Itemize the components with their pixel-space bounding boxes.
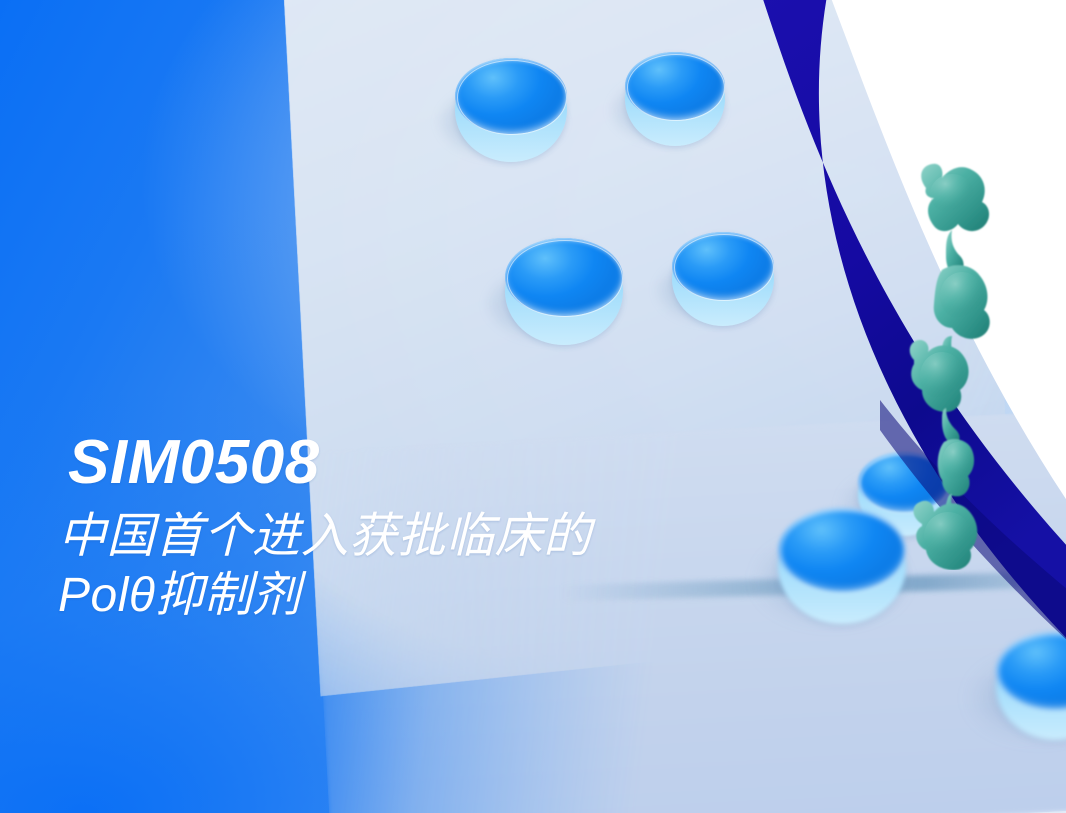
disc-top-right bbox=[625, 52, 725, 146]
disc-bottom-corner bbox=[996, 632, 1066, 740]
headline-block: SIM0508 中国首个进入获批临床的 Polθ抑制剂 bbox=[58, 432, 592, 625]
disc-mid-left bbox=[505, 238, 623, 345]
disc-mid-right-top-face bbox=[672, 232, 774, 300]
protein-structure-render bbox=[880, 150, 1066, 570]
page-title: SIM0508 bbox=[68, 432, 592, 494]
disc-top-left-top-face bbox=[455, 58, 567, 134]
poster-canvas: SIM0508 中国首个进入获批临床的 Polθ抑制剂 bbox=[0, 0, 1066, 813]
disc-mid-right bbox=[672, 232, 774, 326]
disc-mid-left-top-face bbox=[505, 238, 623, 316]
disc-top-right-top-face bbox=[625, 52, 725, 120]
disc-top-left bbox=[455, 58, 567, 162]
page-subtitle: 中国首个进入获批临床的 Polθ抑制剂 bbox=[58, 508, 592, 625]
